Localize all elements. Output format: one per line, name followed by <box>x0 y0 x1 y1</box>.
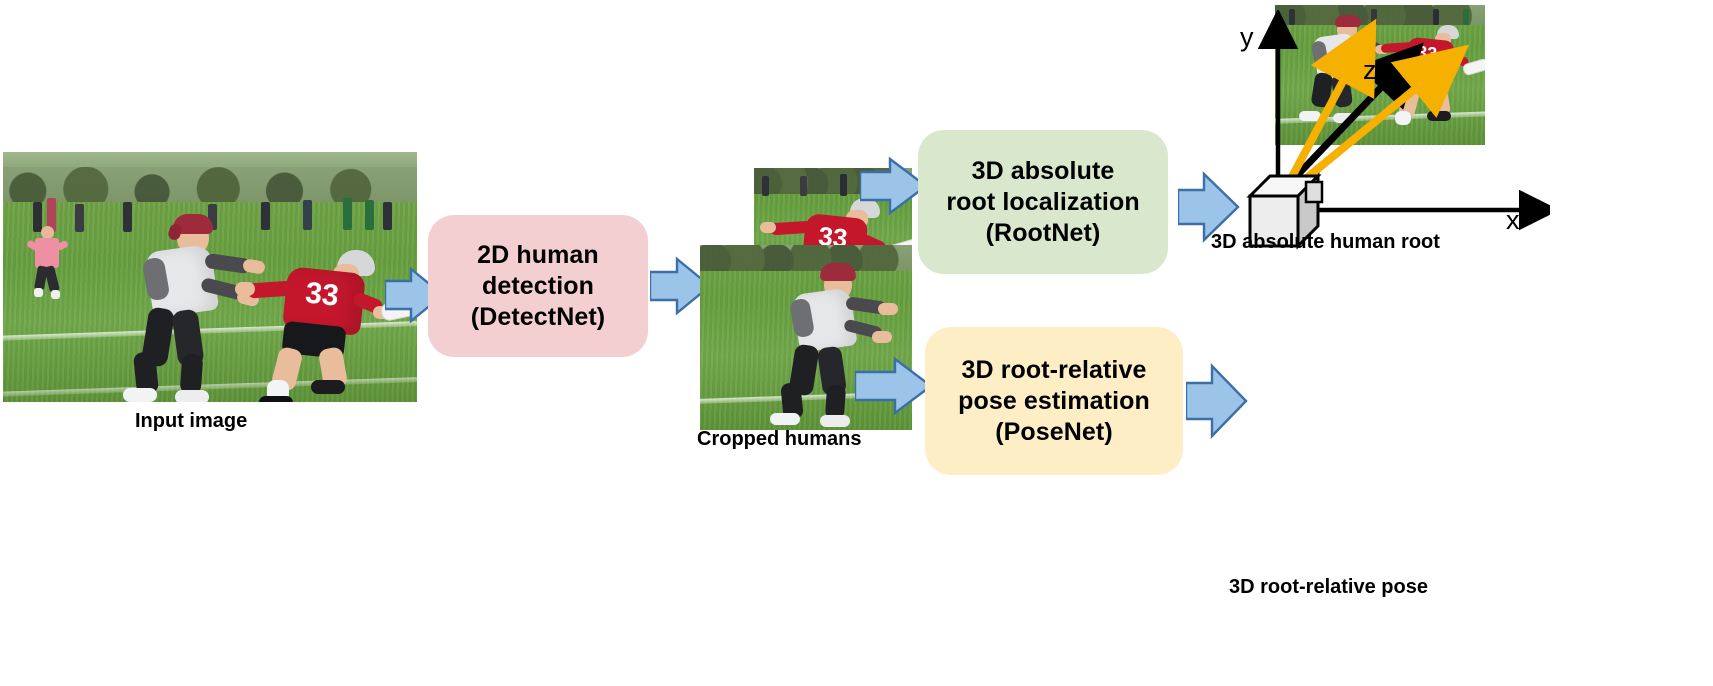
arrow-crops-to-posenet <box>855 355 933 417</box>
relative-pose-caption: 3D root-relative pose <box>1229 576 1428 599</box>
absolute-root-axes-diagram <box>1230 10 1550 255</box>
rootnet-line-1: 3D absolute <box>946 156 1139 187</box>
posenet-box[interactable]: 3D root-relative pose estimation (PoseNe… <box>925 327 1183 475</box>
y-axis-label: y <box>1240 22 1254 53</box>
background-person <box>365 200 374 230</box>
posenet-line-2: pose estimation <box>958 386 1150 417</box>
player-shoe <box>175 390 209 402</box>
detectnet-line-2: detection <box>471 271 605 302</box>
detectnet-line-3: (DetectNet) <box>471 302 605 333</box>
photo-treeline <box>3 167 417 207</box>
jersey-number: 33 <box>298 278 347 313</box>
player-shoe <box>311 380 345 394</box>
background-person <box>303 200 312 230</box>
background-person <box>762 176 769 196</box>
player-shoe <box>259 396 293 402</box>
rootnet-line-3: (RootNet) <box>946 218 1139 249</box>
rootnet-line-2: root localization <box>946 187 1139 218</box>
input-image-caption: Input image <box>135 410 247 433</box>
posenet-line-3: (PoseNet) <box>958 417 1150 448</box>
rootnet-box[interactable]: 3D absolute root localization (RootNet) <box>918 130 1168 274</box>
x-axis-label: x <box>1506 205 1520 236</box>
posenet-line-1: 3D root-relative <box>958 355 1150 386</box>
detectnet-box[interactable]: 2D human detection (DetectNet) <box>428 215 648 357</box>
arrow-posenet-to-relative-pose <box>1186 360 1248 442</box>
input-image-photo: 33 <box>3 152 417 402</box>
cropped-humans-caption: Cropped humans <box>697 428 861 451</box>
player-shoe <box>123 388 157 402</box>
diagram-canvas: 33 Input image 2D human detection (Detec… <box>0 0 1713 686</box>
background-person <box>383 202 392 230</box>
z-axis-label: z <box>1363 55 1377 86</box>
background-runner-pink <box>23 226 83 322</box>
absolute-root-caption: 3D absolute human root <box>1211 231 1440 254</box>
detectnet-line-1: 2D human <box>471 240 605 271</box>
background-person <box>343 198 352 230</box>
